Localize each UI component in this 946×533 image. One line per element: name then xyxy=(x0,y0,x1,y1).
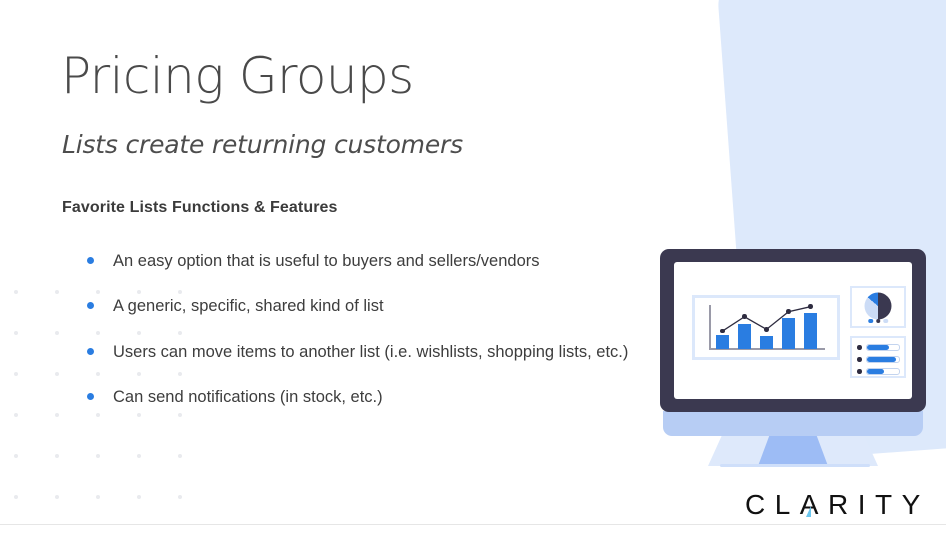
pie-legend-dot xyxy=(868,319,873,324)
list-item: Can send notifications (in stock, etc.) xyxy=(86,386,631,409)
logo-text-label: CLARITY xyxy=(745,489,930,520)
monitor-screen xyxy=(674,262,912,399)
page-title: Pricing Groups xyxy=(61,49,414,104)
chart-bar xyxy=(716,335,729,349)
logo-wordmark: CLARITY xyxy=(745,491,930,519)
chart-bar xyxy=(738,324,751,349)
progress-row xyxy=(857,356,900,363)
list-item: An easy option that is useful to buyers … xyxy=(86,250,631,273)
bullet-dot-icon xyxy=(87,348,94,355)
chart-y-axis xyxy=(709,305,711,350)
list-item-label: An easy option that is useful to buyers … xyxy=(113,252,540,270)
list-item: Users can move items to another list (i.… xyxy=(86,341,631,364)
list-item-label: Users can move items to another list (i.… xyxy=(113,343,628,361)
monitor-bezel xyxy=(660,249,926,412)
chart-bar xyxy=(760,336,773,349)
pie-legend xyxy=(868,319,888,324)
bar-chart-widget xyxy=(692,295,840,360)
progress-track xyxy=(866,344,901,351)
monitor-illustration xyxy=(660,249,926,469)
page-subtitle: Lists create returning customers xyxy=(62,130,463,159)
pie-legend-dot xyxy=(883,319,888,324)
list-item-label: Can send notifications (in stock, etc.) xyxy=(113,388,383,406)
monitor-base xyxy=(720,464,870,467)
bullet-dot-icon xyxy=(87,257,94,264)
bullet-dot-icon xyxy=(87,393,94,400)
progress-row-bullet-icon xyxy=(857,357,862,362)
chart-trend-line xyxy=(695,298,843,363)
bullet-list: An easy option that is useful to buyers … xyxy=(86,250,631,410)
monitor-chin xyxy=(663,411,923,436)
bullet-dot-icon xyxy=(87,302,94,309)
chart-line-marker xyxy=(764,327,769,332)
monitor-stand xyxy=(758,436,828,466)
chart-line-marker xyxy=(786,309,791,314)
progress-track xyxy=(866,356,901,363)
slide-bottom-divider xyxy=(0,524,946,525)
progress-row-bullet-icon xyxy=(857,345,862,350)
pie-legend-dot xyxy=(876,319,881,324)
slide-content: Pricing Groups Lists create returning cu… xyxy=(0,0,660,533)
progress-fill xyxy=(867,345,890,350)
pie-chart-widget xyxy=(850,286,906,328)
progress-fill xyxy=(867,369,885,374)
progress-track xyxy=(866,368,901,375)
slide-canvas: Pricing Groups Lists create returning cu… xyxy=(0,0,946,533)
section-heading: Favorite Lists Functions & Features xyxy=(62,199,338,217)
progress-row xyxy=(857,344,900,351)
logo-accent-triangle-icon xyxy=(806,506,811,517)
list-item: A generic, specific, shared kind of list xyxy=(86,295,631,318)
chart-line-marker xyxy=(720,329,725,334)
progress-row xyxy=(857,368,900,375)
progress-row-bullet-icon xyxy=(857,369,862,374)
chart-bar xyxy=(782,318,795,349)
list-item-label: A generic, specific, shared kind of list xyxy=(113,297,384,315)
chart-line-marker xyxy=(742,314,747,319)
pie-chart-icon xyxy=(865,293,892,320)
progress-list-widget xyxy=(850,336,906,378)
chart-line-marker xyxy=(808,304,813,309)
chart-bar xyxy=(804,313,817,349)
clarity-logo: CLARITY xyxy=(745,489,930,521)
progress-fill xyxy=(867,357,897,362)
progress-rows xyxy=(857,344,900,375)
